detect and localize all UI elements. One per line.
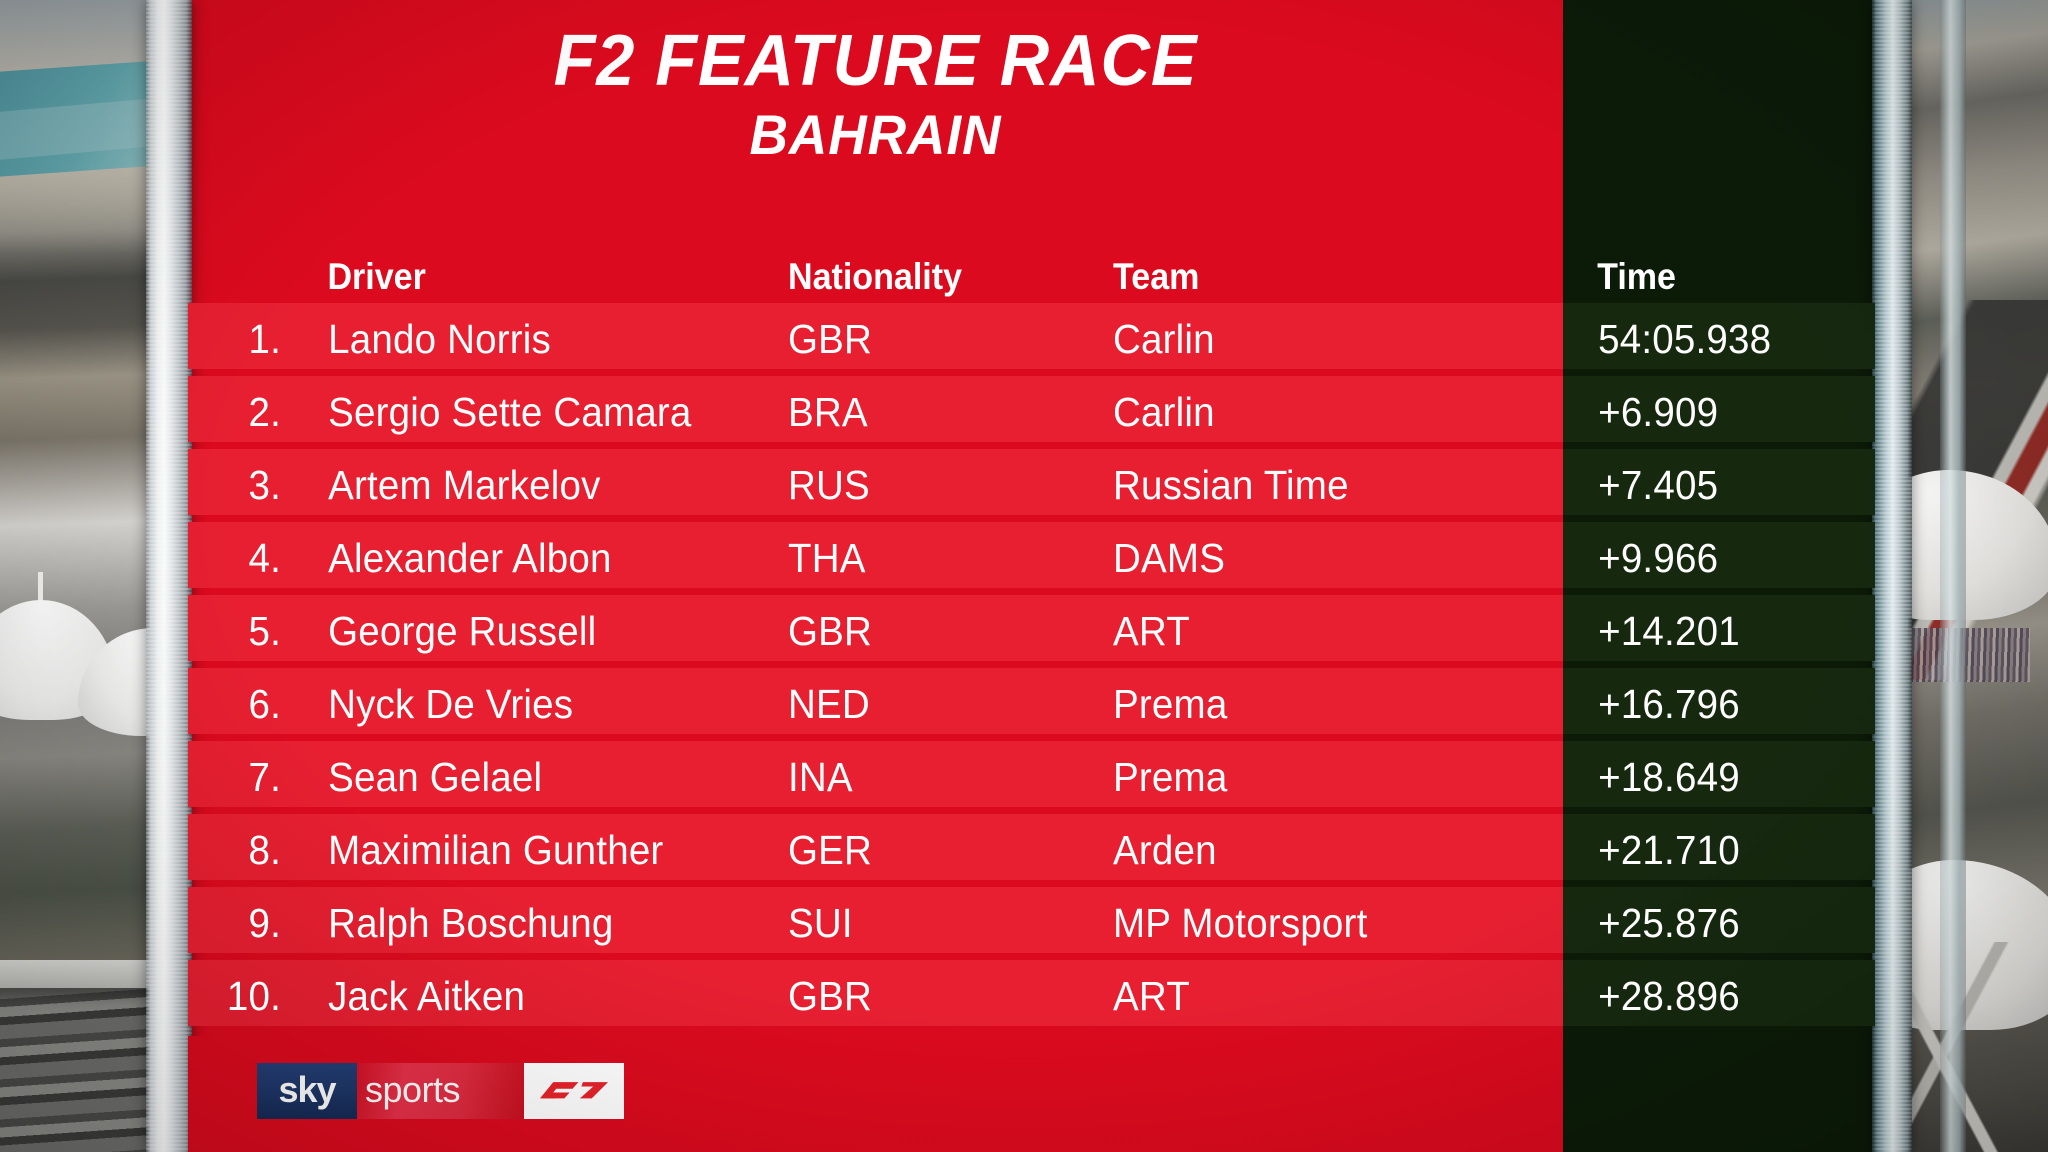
row-cell-nationality: THA xyxy=(788,535,1094,582)
row-cell-time: +28.896 xyxy=(1553,973,1846,1020)
row-cell-time: 54:05.938 xyxy=(1553,316,1846,363)
row-cell-team: ART xyxy=(1113,973,1527,1020)
column-header-time: Time xyxy=(1553,256,1840,304)
row-cell-driver: Sergio Sette Camara xyxy=(298,389,759,436)
row-cell-driver: Jack Aitken xyxy=(298,973,759,1020)
row-cell-position: 10. xyxy=(195,973,298,1020)
row-cell-position: 4. xyxy=(195,535,298,582)
f1-logo-box xyxy=(524,1063,624,1119)
row-cell-nationality: GBR xyxy=(788,316,1094,363)
table-row[interactable]: 9.Ralph BoschungSUIMP Motorsport+25.876 xyxy=(188,887,1875,960)
row-cell-time: +16.796 xyxy=(1553,681,1846,728)
row-cell-driver: Nyck De Vries xyxy=(298,681,759,728)
row-cell-team: Carlin xyxy=(1113,389,1527,436)
table-row[interactable]: 3.Artem MarkelovRUSRussian Time+7.405 xyxy=(188,449,1875,522)
row-cell-driver: Artem Markelov xyxy=(298,462,759,509)
row-cell-team: Russian Time xyxy=(1113,462,1527,509)
table-row[interactable]: 10.Jack AitkenGBRART+28.896 xyxy=(188,960,1875,1033)
row-content: 4.Alexander AlbonTHADAMS+9.966 xyxy=(188,526,1875,592)
row-cell-nationality: RUS xyxy=(788,462,1094,509)
row-content: 2.Sergio Sette CamaraBRACarlin+6.909 xyxy=(188,380,1875,446)
chrome-divider-right xyxy=(1872,0,1912,1152)
row-content: 1.Lando NorrisGBRCarlin54:05.938 xyxy=(188,307,1875,373)
column-header-team: Team xyxy=(1113,256,1518,304)
sky-sports-f1-logo: sky sports xyxy=(257,1063,624,1119)
table-row[interactable]: 4.Alexander AlbonTHADAMS+9.966 xyxy=(188,522,1875,595)
row-cell-nationality: NED xyxy=(788,681,1094,728)
row-cell-driver: George Russell xyxy=(298,608,759,655)
row-cell-nationality: BRA xyxy=(788,389,1094,436)
row-cell-team: Arden xyxy=(1113,827,1527,874)
row-content: 7.Sean GelaelINAPrema+18.649 xyxy=(188,745,1875,811)
row-cell-position: 1. xyxy=(195,316,298,363)
row-content: 6.Nyck De VriesNEDPrema+16.796 xyxy=(188,672,1875,738)
row-cell-nationality: GER xyxy=(788,827,1094,874)
row-cell-position: 9. xyxy=(195,900,298,947)
table-row[interactable]: 8.Maximilian GuntherGERArden+21.710 xyxy=(188,814,1875,887)
column-header-driver: Driver xyxy=(298,256,749,304)
row-cell-driver: Maximilian Gunther xyxy=(298,827,759,874)
table-row[interactable]: 2.Sergio Sette CamaraBRACarlin+6.909 xyxy=(188,376,1875,449)
row-content: 3.Artem MarkelovRUSRussian Time+7.405 xyxy=(188,453,1875,519)
row-cell-team: MP Motorsport xyxy=(1113,900,1527,947)
sports-logo-text: sports xyxy=(365,1072,460,1108)
chrome-divider-far-right xyxy=(1940,0,1966,1152)
row-cell-position: 5. xyxy=(195,608,298,655)
row-cell-driver: Ralph Boschung xyxy=(298,900,759,947)
table-header-row: Driver Nationality Team Time xyxy=(188,232,1875,304)
row-cell-driver: Alexander Albon xyxy=(298,535,759,582)
chrome-divider-left xyxy=(146,0,192,1152)
row-cell-nationality: SUI xyxy=(788,900,1094,947)
sky-logo-box: sky xyxy=(257,1063,357,1119)
row-cell-nationality: GBR xyxy=(788,608,1094,655)
row-cell-time: +7.405 xyxy=(1553,462,1846,509)
row-cell-time: +25.876 xyxy=(1553,900,1846,947)
f1-logo-icon xyxy=(537,1076,611,1106)
sky-logo-text: sky xyxy=(278,1072,335,1108)
table-row[interactable]: 5.George RussellGBRART+14.201 xyxy=(188,595,1875,668)
row-cell-time: +21.710 xyxy=(1553,827,1846,874)
row-cell-position: 3. xyxy=(195,462,298,509)
table-row[interactable]: 6.Nyck De VriesNEDPrema+16.796 xyxy=(188,668,1875,741)
row-cell-time: +14.201 xyxy=(1553,608,1846,655)
row-content: 9.Ralph BoschungSUIMP Motorsport+25.876 xyxy=(188,891,1875,957)
sports-logo-box: sports xyxy=(357,1063,524,1119)
row-cell-driver: Lando Norris xyxy=(298,316,759,363)
row-cell-position: 6. xyxy=(195,681,298,728)
row-cell-team: DAMS xyxy=(1113,535,1527,582)
row-cell-driver: Sean Gelael xyxy=(298,754,759,801)
chrome-scanlines xyxy=(146,0,192,1152)
row-cell-team: Prema xyxy=(1113,754,1527,801)
row-content: 8.Maximilian GuntherGERArden+21.710 xyxy=(188,818,1875,884)
row-cell-team: Carlin xyxy=(1113,316,1527,363)
results-table-body: 1.Lando NorrisGBRCarlin54:05.9382.Sergio… xyxy=(188,303,1875,1033)
row-content: 5.George RussellGBRART+14.201 xyxy=(188,599,1875,665)
row-cell-time: +9.966 xyxy=(1553,535,1846,582)
row-content: 10.Jack AitkenGBRART+28.896 xyxy=(188,964,1875,1030)
row-cell-nationality: INA xyxy=(788,754,1094,801)
column-header-nationality: Nationality xyxy=(788,256,1087,304)
row-cell-position: 8. xyxy=(195,827,298,874)
row-cell-position: 2. xyxy=(195,389,298,436)
chrome-scanlines xyxy=(1872,0,1912,1152)
broadcast-graphic-stage: F2 FEATURE RACE BAHRAIN Driver Nationali… xyxy=(0,0,2048,1152)
row-cell-time: +18.649 xyxy=(1553,754,1846,801)
row-cell-team: ART xyxy=(1113,608,1527,655)
row-cell-position: 7. xyxy=(195,754,298,801)
row-cell-time: +6.909 xyxy=(1553,389,1846,436)
table-row[interactable]: 1.Lando NorrisGBRCarlin54:05.938 xyxy=(188,303,1875,376)
row-cell-team: Prema xyxy=(1113,681,1527,728)
table-row[interactable]: 7.Sean GelaelINAPrema+18.649 xyxy=(188,741,1875,814)
row-cell-nationality: GBR xyxy=(788,973,1094,1020)
